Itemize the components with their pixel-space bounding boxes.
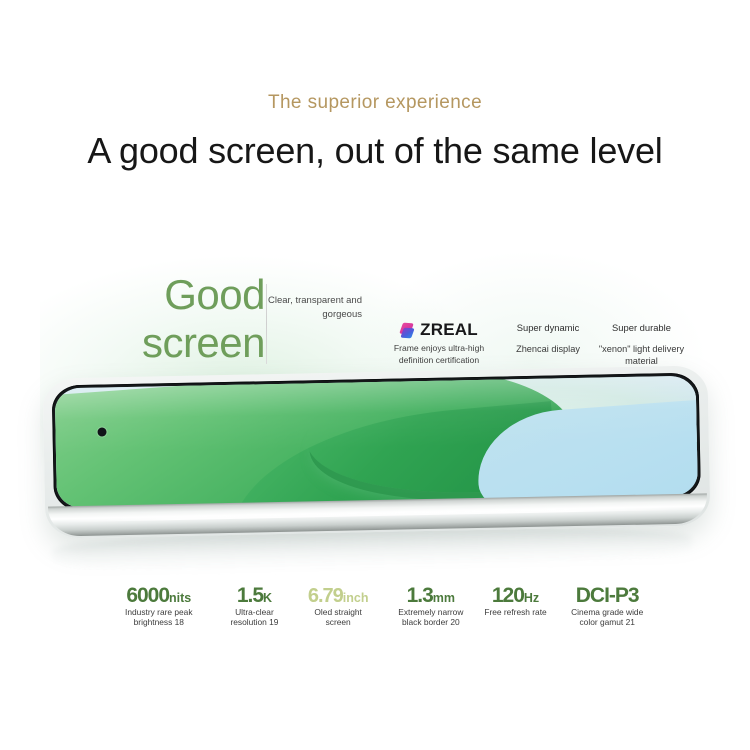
cert-item-subtitle: "xenon" light delivery material [589, 343, 694, 367]
hero-label-line2: screen [140, 320, 265, 366]
spec-number: 6000 [126, 584, 169, 607]
hero-label-line1: Good [140, 272, 265, 318]
spec-strip: 6000nits Industry rare peak brightness 1… [100, 586, 660, 632]
page-title: A good screen, out of the same level [0, 130, 750, 172]
spec-unit: nits [169, 591, 191, 605]
spec-caption-line2: resolution 19 [218, 617, 292, 628]
spec-unit: inch [343, 591, 369, 605]
spec-unit: K [263, 591, 272, 605]
cert-item-super-dynamic: Super dynamic Zhencai display [503, 322, 593, 355]
spec-item-bezel: 1.3mm Extremely narrow black border 20 [385, 586, 477, 628]
zreal-rhombus-logo-icon [400, 323, 415, 338]
spec-value: 6.79inch [291, 586, 385, 608]
spec-item-screen-size: 6.79inch Oled straight screen [291, 586, 385, 628]
zreal-brand-block: ZREAL Frame enjoys ultra-high definition… [383, 320, 495, 366]
spec-number: 6.79 [308, 585, 343, 607]
spec-unit: Hz [524, 591, 539, 605]
screen-gloss [55, 376, 698, 509]
phone-body [42, 365, 710, 538]
spec-number: 1.3 [407, 584, 433, 607]
cert-item-super-durable: Super durable "xenon" light delivery mat… [589, 322, 694, 367]
cert-item-title: Super dynamic [503, 322, 593, 334]
spec-caption-line2: brightness 18 [100, 617, 218, 628]
spec-number: 1.5 [237, 584, 263, 607]
spec-value: 1.3mm [385, 586, 477, 608]
spec-number: DCI-P3 [576, 584, 639, 607]
zreal-wordmark: ZREAL [420, 320, 478, 340]
front-camera-icon [97, 427, 106, 436]
spec-item-color-gamut: DCI-P3 Cinema grade wide color gamut 21 [554, 586, 660, 628]
phone-screen [55, 376, 698, 509]
spec-value: 6000nits [100, 586, 218, 608]
zreal-caption: Frame enjoys ultra-high definition certi… [383, 343, 495, 366]
zreal-logo-row: ZREAL [383, 320, 495, 340]
vertical-divider [266, 284, 267, 364]
hero-label: Good screen [140, 272, 265, 366]
spec-number: 120 [492, 584, 524, 607]
cert-item-title: Super durable [589, 322, 694, 334]
spec-caption-line1: Free refresh rate [477, 607, 555, 618]
page-eyebrow: The superior experience [0, 92, 750, 114]
spec-caption-line2: screen [291, 617, 385, 628]
spec-caption-line2: color gamut 21 [554, 617, 660, 628]
spec-value: 120Hz [477, 586, 555, 608]
spec-value: DCI-P3 [554, 586, 660, 608]
spec-value: 1.5K [218, 586, 292, 608]
spec-item-brightness: 6000nits Industry rare peak brightness 1… [100, 586, 218, 628]
spec-unit: mm [433, 591, 455, 605]
spec-item-resolution: 1.5K Ultra-clear resolution 19 [218, 586, 292, 628]
phone-bezel [52, 373, 701, 512]
certification-group: ZREAL Frame enjoys ultra-high definition… [383, 320, 663, 370]
cert-item-subtitle: Zhencai display [503, 343, 593, 355]
spec-caption-line2: black border 20 [385, 617, 477, 628]
product-image-smartphone [44, 372, 709, 557]
spec-item-refresh-rate: 120Hz Free refresh rate [477, 586, 555, 617]
hero-subtext: Clear, transparent and gorgeous [268, 294, 362, 321]
product-promo-page: The superior experience A good screen, o… [0, 0, 750, 750]
